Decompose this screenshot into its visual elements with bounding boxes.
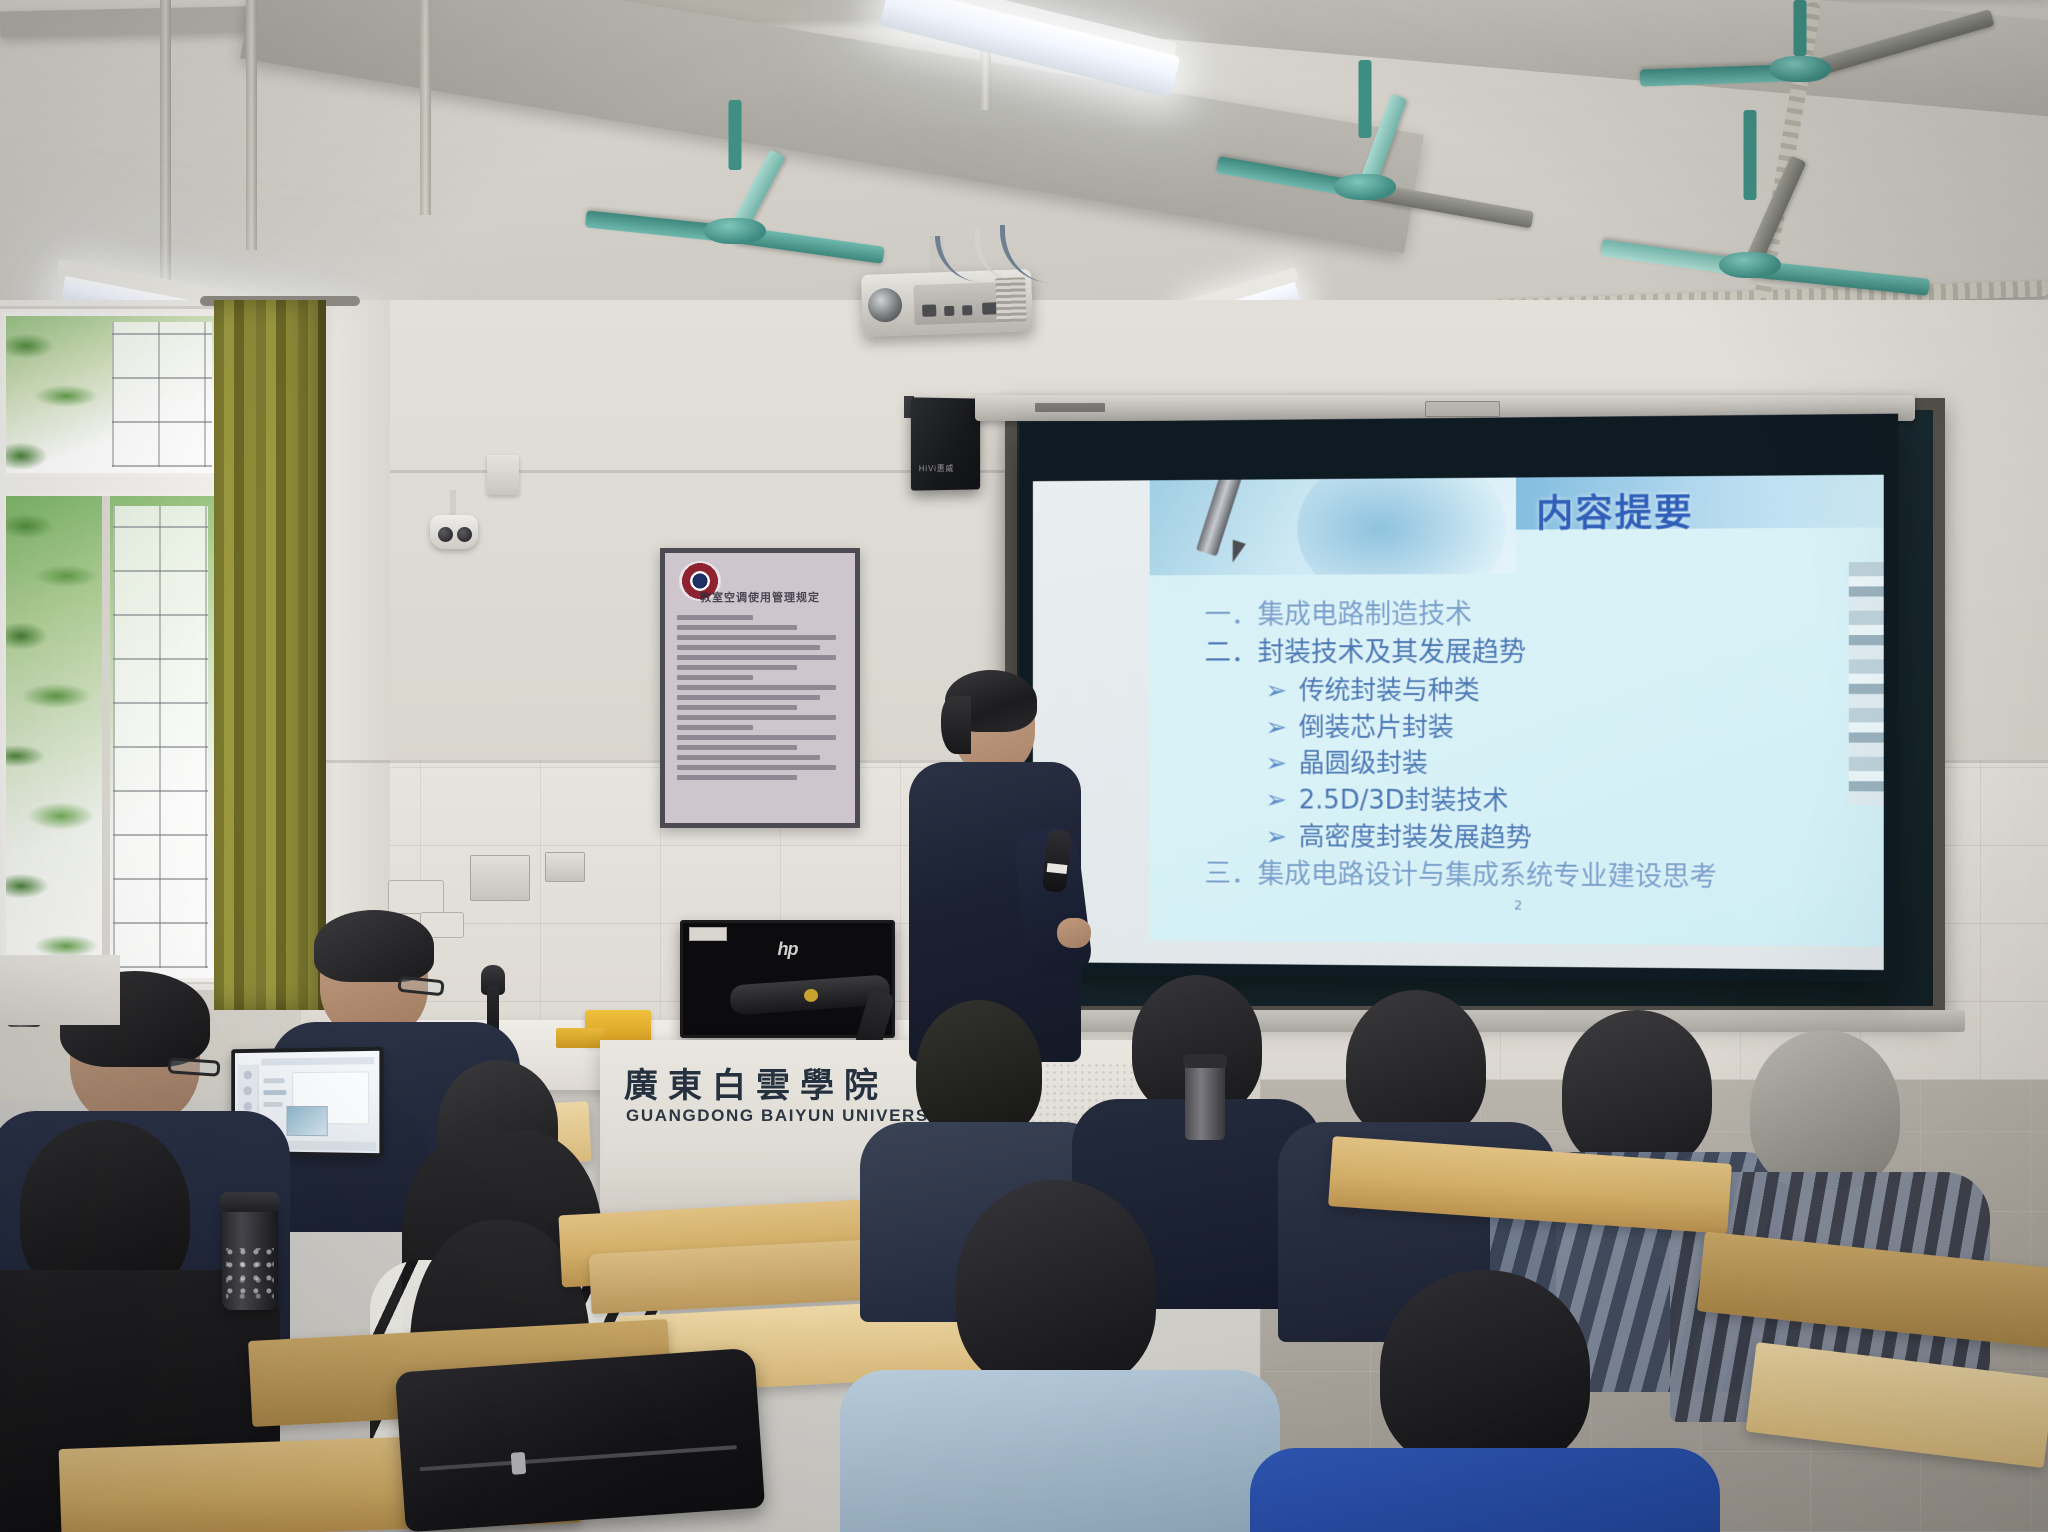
camera-lens-icon [438,527,453,542]
window-mullion [102,496,110,978]
slide-bullet: ➢传统封装与种类 [1205,672,1868,709]
ceiling-fan [1630,170,1870,290]
monitor-asset-tag [689,927,727,941]
slide-line: 二．封装技术及其发展趋势 [1205,633,1868,672]
thermos-cup [1185,1062,1225,1140]
person-hair [1380,1270,1590,1470]
slide-title: 内容提要 [1536,482,1694,537]
poster-text-row [677,775,797,780]
poster-text-row [677,725,753,730]
projector-port [962,305,972,315]
ceiling-fan [1250,110,1480,230]
tumbler-lid [220,1192,280,1212]
laptop-bag [395,1348,765,1532]
slide-bullet: ➢高密度封装发展趋势 [1205,819,1868,859]
microphone-band [1047,863,1068,874]
fan-rod [1794,0,1807,56]
projector-port [944,306,954,316]
thermos-lid [1183,1054,1227,1068]
poster-text-row [677,765,836,770]
slide-line: 三．集成电路设计与集成系统专业建设思考 [1205,856,1868,899]
ceiling-pipe [420,0,431,215]
bag-zipper-pull [511,1452,527,1475]
presenter-hand [1057,918,1091,948]
screen-brand-label [1035,403,1105,412]
poster-text-row [677,645,820,650]
slide-bullet-label: 高密度封装发展趋势 [1299,823,1532,854]
person-hair [314,910,434,982]
person-torso-blue [1250,1448,1720,1532]
motion-sensor [487,455,519,495]
poster-text-row [677,625,797,630]
projector-lens [867,288,902,323]
ceiling-fan [1680,20,1920,130]
camera-lens-icon [457,527,472,542]
person-hair [916,1000,1042,1140]
fan-motor [1769,56,1831,82]
slide-bullet: ➢2.5D/3D封装技术 [1205,783,1868,822]
wall-speaker: HiVi惠威 [911,397,980,490]
projector-vent [995,277,1027,322]
audience-member-foreground-center [860,1180,1260,1532]
bullet-arrow-icon: ➢ [1266,786,1287,816]
slide-body: 一．集成电路制造技术 二．封装技术及其发展趋势 ➢传统封装与种类 ➢倒装芯片封装… [1205,595,1868,899]
poster-text-row [677,735,836,740]
wall-outlet-box[interactable] [470,855,530,901]
person-hair [1346,990,1486,1140]
power-socket[interactable] [388,880,444,914]
slide-bullet-label: 传统封装与种类 [1299,676,1480,706]
bag-zipper [420,1445,738,1471]
slide-number: 2 [1514,898,1522,913]
photo-bokeh [1297,478,1506,576]
poster-text-row [677,695,820,700]
ceiling-fan [620,140,850,260]
tumbler-pattern [226,1248,274,1300]
university-name-chinese: 廣東白雲學院 [624,1058,888,1107]
security-camera [430,515,478,549]
window-grille [112,322,212,467]
laptop-list-row [263,1078,284,1083]
bullet-arrow-icon: ➢ [1266,676,1287,706]
slide-bullet-label: 2.5D/3D封装技术 [1299,786,1509,817]
presentation-slide: 内容提要 一．集成电路制造技术 二．封装技术及其发展趋势 ➢传统封装与种类 ➢倒… [1150,475,1884,947]
water-tumbler [222,1200,278,1310]
audience-member-foreground-right [1280,1270,1700,1532]
ceiling-pipe [160,0,171,300]
presenter-hair [941,696,971,754]
window [0,300,230,990]
projection-screen: 内容提要 一．集成电路制造技术 二．封装技术及其发展趋势 ➢传统封装与种类 ➢倒… [1019,414,1898,983]
fan-rod [729,100,742,170]
monitor-brand-logo: hp [778,939,798,960]
pen-tip-illustration [1226,540,1246,565]
fan-rod [1359,60,1372,138]
poster-text-row [677,715,836,720]
slide-bullet-label: 晶圆级封装 [1299,749,1428,779]
person-hair-grey [1750,1030,1900,1190]
projection-screen-surface: 内容提要 一．集成电路制造技术 二．封装技术及其发展趋势 ➢传统封装与种类 ➢倒… [1033,475,1884,970]
classroom-scene: HiVi惠威 内容提要 一．集成电路制造技术 二．封装技术及其发展趋势 ➢传统封… [0,0,2048,1532]
screen-control-tag[interactable] [1425,401,1500,417]
laptop-thumbnail-image [286,1106,327,1136]
speaker-brand-label: HiVi惠威 [919,463,954,474]
fan-motor [1719,252,1781,278]
person-torso-lightblue [840,1370,1280,1532]
slide-bullet: ➢倒装芯片封装 [1205,709,1868,747]
poster-text-row [677,755,820,760]
person-hair [956,1180,1156,1390]
poster-text-row [677,745,797,750]
wall-poster: 教室空调使用管理规定 [660,548,860,828]
fan-motor [1334,174,1396,200]
poster-text-row [677,615,753,620]
poster-text-row [677,675,753,680]
left-shelf [0,955,120,1025]
slide-line: 一．集成电路制造技术 [1205,595,1868,635]
poster-text-row [677,635,836,640]
poster-text-row [677,685,836,690]
window-pane-upper [2,312,220,477]
slide-bullet-label: 倒装芯片封装 [1299,712,1454,742]
slide-header-photo [1150,478,1516,576]
window-pane-lower [2,492,220,982]
laptop-list-row [263,1090,286,1095]
yellow-box-item [556,1028,604,1048]
slide-bullet: ➢晶圆级封装 [1205,746,1868,785]
poster-title: 教室空调使用管理规定 [665,589,855,605]
poster-text-row [677,655,836,660]
poster-body [677,615,843,785]
bullet-arrow-icon: ➢ [1266,749,1287,779]
poster-text-row [677,705,797,710]
ceiling-pipe [246,0,257,250]
projector-port [922,304,936,316]
bullet-arrow-icon: ➢ [1266,822,1287,852]
poster-text-row [677,665,797,670]
laptop-list-row [263,1102,282,1107]
curtain [214,300,326,1010]
bullet-arrow-icon: ➢ [1266,712,1287,742]
window-grille [113,506,208,968]
laptop-app-toolbar [261,1057,374,1066]
wall-outlet-box[interactable] [545,852,585,882]
fan-motor [704,218,766,244]
document-camera-lens-icon [804,988,819,1002]
